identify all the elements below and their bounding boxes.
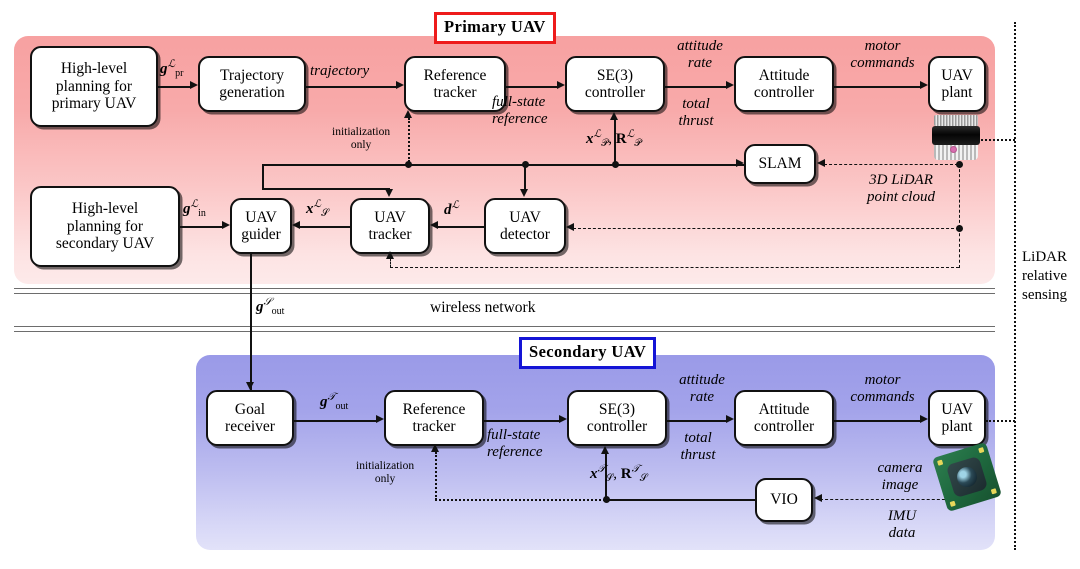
edge-state-feedback-bus-primary [262, 164, 746, 166]
label-attitude-rate-primary: attitude rate [660, 38, 740, 71]
arrowhead [726, 81, 734, 89]
tt1-line2: thrust [678, 113, 713, 129]
label-trajectory: trajectory [310, 63, 369, 80]
arrowhead [601, 446, 609, 454]
arrowhead [920, 81, 928, 89]
utrk-line2: tracker [364, 226, 415, 243]
rel-line2: relative [1022, 268, 1067, 284]
block-attitude-controller-primary[interactable]: Attitude controller [734, 56, 834, 112]
edge-relative-sensing-to-plant2-dotted [986, 420, 1015, 422]
slam-label: SLAM [754, 155, 805, 172]
label-motor-commands-primary: motor commands [830, 38, 935, 71]
fsr2-line2: reference [487, 444, 543, 460]
init1-line2: only [351, 139, 371, 151]
se32-line1: SE(3) [583, 401, 651, 418]
ci-line1: camera [878, 460, 923, 476]
edge-vio-feedback-bus [605, 499, 755, 501]
fsr2-line1: full-state [487, 427, 540, 443]
edge-goal-to-reference-tracker [294, 420, 377, 422]
block-uav-guider[interactable]: UAV guider [230, 198, 292, 254]
imu-line2: data [889, 525, 916, 541]
block-se3-controller-primary[interactable]: SE(3) controller [565, 56, 665, 112]
arrowhead [430, 221, 438, 229]
fsr1-line2: reference [492, 111, 548, 127]
init2-line2: only [375, 473, 395, 485]
block-uav-plant-primary[interactable]: UAV plant [928, 56, 986, 112]
edge-detector-to-tracker [437, 226, 484, 228]
utrk-line1: UAV [364, 209, 415, 226]
lidar-band [932, 126, 980, 145]
lidar-sensor-icon [930, 115, 982, 167]
arrowhead [726, 415, 734, 423]
arrowhead [817, 159, 825, 167]
se31-line2: controller [581, 84, 649, 101]
rel-line1: LiDAR [1022, 249, 1067, 265]
block-trajectory-generation[interactable]: Trajectory generation [198, 56, 306, 112]
hlp2-line3: secondary UAV [52, 235, 158, 252]
goal-line2: receiver [221, 418, 279, 435]
plant1-line1: UAV [937, 67, 977, 84]
hlp-line2: planning for [48, 78, 141, 95]
figure-canvas: Primary UAV Secondary UAV wireless netwo… [0, 0, 1080, 569]
edge-traj-to-ref [306, 86, 397, 88]
label-total-thrust-primary: total thrust [661, 96, 731, 129]
plant2-line2: plant [937, 418, 977, 435]
edge-init-bus-secondary [435, 499, 605, 501]
guide-line1: UAV [237, 209, 285, 226]
arrowhead [396, 81, 404, 89]
edge-bus-elbow-down [262, 164, 264, 190]
init1-line1: initialization [332, 126, 390, 138]
edge-bus-elbow-right [262, 188, 390, 190]
block-uav-tracker[interactable]: UAV tracker [350, 198, 430, 254]
edge-lidar-lower-down-dashed [959, 228, 960, 268]
lidar-eye [950, 146, 957, 153]
arrowhead [246, 382, 254, 390]
label-full-state-reference-secondary: full-state reference [487, 427, 543, 460]
arrowhead [814, 494, 822, 502]
block-reference-tracker-secondary[interactable]: Reference tracker [384, 390, 484, 446]
label-camera-image: camera image [855, 460, 945, 493]
edge-se3-to-attitude [665, 86, 727, 88]
block-uav-plant-secondary[interactable]: UAV plant [928, 390, 986, 446]
block-uav-detector[interactable]: UAV detector [484, 198, 566, 254]
network-divider-top [14, 288, 995, 294]
arrowhead [292, 221, 300, 229]
edge-lidar-down-dashed [959, 164, 960, 228]
vio-label: VIO [766, 491, 802, 508]
hlp-line3: primary UAV [48, 95, 141, 112]
label-g-pr: gℒpr [160, 58, 183, 79]
ci-line2: image [882, 477, 919, 493]
hlp-line1: High-level [48, 60, 141, 77]
ar2-line1: attitude [679, 372, 725, 388]
plant2-line1: UAV [937, 401, 977, 418]
udet-line1: UAV [496, 209, 554, 226]
label-g-in: gℒin [183, 198, 206, 219]
arrowhead [376, 415, 384, 423]
primary-uav-title: Primary UAV [434, 12, 556, 44]
att1-line2: controller [750, 84, 818, 101]
edge-lidar-up-to-tracker-dashed [390, 258, 391, 268]
ar1-line1: attitude [677, 38, 723, 54]
att2-line2: controller [750, 418, 818, 435]
lpc-line1: 3D LiDAR [869, 172, 933, 188]
edge-attitude-to-plant-secondary [834, 420, 921, 422]
block-goal-receiver[interactable]: Goal receiver [206, 390, 294, 446]
plant1-line2: plant [937, 84, 977, 101]
lpc-line2: point cloud [867, 189, 935, 205]
label-total-thrust-secondary: total thrust [663, 430, 733, 463]
init2-line1: initialization [356, 460, 414, 472]
arrowhead [190, 81, 198, 89]
edge-initialization-only-primary [408, 118, 410, 162]
label-lidar-relative-sensing: LiDAR relative sensing [1022, 248, 1067, 304]
label-d: dℒ [444, 199, 459, 219]
label-x-s: xℒ𝒮 [306, 198, 329, 219]
imu-line1: IMU [888, 508, 916, 524]
ref2-line2: tracker [399, 418, 470, 435]
edge-initialization-only-secondary [435, 452, 437, 500]
hlp2-line1: High-level [52, 200, 158, 217]
se32-line2: controller [583, 418, 651, 435]
fsr1-line1: full-state [492, 94, 545, 110]
edge-reference-to-se3-secondary [484, 420, 560, 422]
arrowhead [610, 112, 618, 120]
arrowhead [566, 223, 574, 231]
lidar-top-ring [934, 115, 978, 126]
label-initialization-only-primary: initialization only [332, 126, 390, 152]
guide-line2: guider [237, 226, 285, 243]
arrowhead [222, 221, 230, 229]
se31-line1: SE(3) [581, 67, 649, 84]
mc2-line2: commands [850, 389, 914, 405]
network-divider-bottom [14, 326, 995, 332]
edge-guider-to-goal-receiver [250, 254, 252, 391]
arrowhead [385, 189, 393, 197]
edge-ref-to-se3 [506, 86, 558, 88]
ar2-line2: rate [690, 389, 714, 405]
edge-lidar-bottom-dashed [390, 267, 959, 268]
block-high-level-planning-primary[interactable]: High-level planning for primary UAV [30, 46, 158, 127]
wireless-network-label: wireless network [430, 299, 535, 317]
edge-hlp-to-traj [158, 86, 191, 88]
rel-line3: sensing [1022, 287, 1067, 303]
mc1-line1: motor [865, 38, 901, 54]
block-reference-tracker-primary[interactable]: Reference tracker [404, 56, 506, 112]
edge-hlp2-to-guider [180, 226, 223, 228]
edge-se3-to-attitude-secondary [667, 420, 727, 422]
traj-line1: Trajectory [215, 67, 288, 84]
hlp2-line2: planning for [52, 218, 158, 235]
tt2-line1: total [684, 430, 712, 446]
edge-relative-sensing-vertical-dotted [1014, 22, 1016, 550]
edge-node-to-se3-primary [614, 120, 616, 164]
block-vio[interactable]: VIO [755, 478, 813, 522]
goal-line1: Goal [221, 401, 279, 418]
arrowhead [386, 251, 394, 259]
label-full-state-reference-primary: full-state reference [492, 94, 548, 127]
label-lidar-point-cloud: 3D LiDAR point cloud [846, 172, 956, 205]
arrowhead [736, 159, 744, 167]
att1-line1: Attitude [750, 67, 818, 84]
udet-line2: detector [496, 226, 554, 243]
label-initialization-only-secondary: initialization only [356, 460, 414, 486]
block-slam[interactable]: SLAM [744, 144, 816, 184]
label-g-out-s: g𝒮out [256, 297, 284, 317]
label-state-rotation-secondary: x𝒯𝒮, R𝒯𝒮 [590, 464, 647, 484]
edge-camera-to-vio-dashed [820, 499, 950, 500]
arrowhead [431, 444, 439, 452]
arrowhead [559, 415, 567, 423]
edge-tracker-to-guider [299, 226, 350, 228]
secondary-uav-title: Secondary UAV [519, 337, 656, 369]
label-g-out-v: g𝒯out [320, 392, 348, 412]
tt1-line1: total [682, 96, 710, 112]
arrowhead [520, 189, 528, 197]
ref1-line1: Reference [420, 67, 491, 84]
label-attitude-rate-secondary: attitude rate [662, 372, 742, 405]
block-attitude-controller-secondary[interactable]: Attitude controller [734, 390, 834, 446]
traj-line2: generation [215, 84, 288, 101]
tt2-line2: thrust [680, 447, 715, 463]
ref1-line2: tracker [420, 84, 491, 101]
edge-attitude-to-plant-primary [834, 86, 921, 88]
edge-node-to-uav-detector [524, 164, 526, 190]
edge-lidar-to-detector-dashed [573, 228, 959, 229]
arrowhead [404, 110, 412, 118]
arrowhead [557, 81, 565, 89]
arrowhead [920, 415, 928, 423]
att2-line1: Attitude [750, 401, 818, 418]
block-high-level-planning-secondary[interactable]: High-level planning for secondary UAV [30, 186, 180, 267]
label-motor-commands-secondary: motor commands [830, 372, 935, 405]
label-imu-data: IMU data [862, 508, 942, 541]
ref2-line1: Reference [399, 401, 470, 418]
mc2-line1: motor [865, 372, 901, 388]
ar1-line2: rate [688, 55, 712, 71]
mc1-line2: commands [850, 55, 914, 71]
block-se3-controller-secondary[interactable]: SE(3) controller [567, 390, 667, 446]
